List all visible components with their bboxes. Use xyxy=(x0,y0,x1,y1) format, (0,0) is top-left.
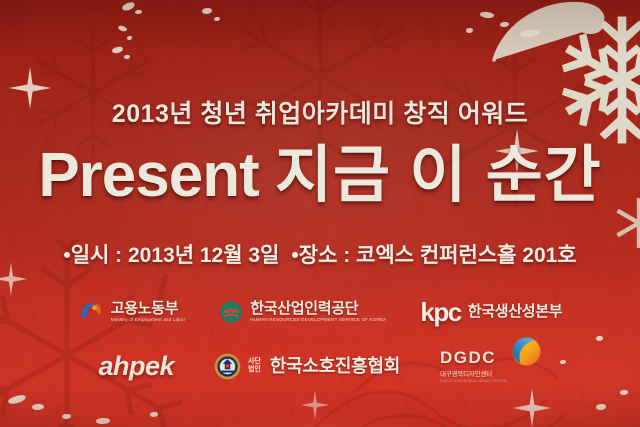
event-venue: •장소 : 코엑스 컨퍼런스홀 201호 xyxy=(291,244,576,267)
ahpek-wordmark-icon: ahpek xyxy=(98,353,174,380)
kpc-wordmark-icon: kpc xyxy=(420,299,460,325)
moel-text: 고용노동부 Ministry of Employment and Labor xyxy=(111,301,186,324)
dgdc-text: DGDC 대구경북디자인센터 DAEGU GYEONGBUK DESIGN CE… xyxy=(440,349,507,383)
sponsor-logo-moel: 고용노동부 Ministry of Employment and Labor xyxy=(78,299,186,325)
soho-prefix-line2: 법인 xyxy=(248,366,261,373)
soho-prefix-line1: 사단 xyxy=(248,358,261,365)
kpc-name-ko: 한국생산성본부 xyxy=(468,304,563,320)
banner-title-english: Present xyxy=(38,141,258,210)
sponsor-row-primary: 고용노동부 Ministry of Employment and Labor 한… xyxy=(0,291,640,333)
event-date: •일시 : 2013년 12월 3일 xyxy=(63,244,279,267)
hrdkorea-text: 한국산업인력공단 HUMAN RESOURCES DEVELOPMENT SER… xyxy=(250,301,386,324)
moel-name-ko: 고용노동부 xyxy=(111,301,186,317)
sponsor-row-secondary: ahpek 사단 법인 한국소호진흥협회 xyxy=(0,342,640,390)
hrdkorea-circle-icon xyxy=(219,300,243,324)
hrdkorea-name-en: HUMAN RESOURCES DEVELOPMENT SERVICE OF K… xyxy=(250,317,386,323)
sponsor-logo-soho: 사단 법인 한국소호진흥협회 xyxy=(214,353,400,380)
dgdc-name-ko: 대구경북디자인센터 xyxy=(440,368,492,378)
dgdc-name-en: DAEGU GYEONGBUK DESIGN CENTER xyxy=(440,379,507,383)
event-banner: 2013년 청년 취업아카데미 창직 어워드 Present 지금 이 순간 •… xyxy=(0,0,640,427)
sponsor-logo-kpc: kpc 한국생산성본부 xyxy=(420,299,562,325)
sponsor-logo-hrdkorea: 한국산업인력공단 HUMAN RESOURCES DEVELOPMENT SER… xyxy=(219,300,386,324)
soho-emblem-icon xyxy=(214,353,241,380)
ribbon-swoosh-icon xyxy=(486,0,606,68)
moel-swoosh-icon xyxy=(78,299,104,325)
soho-text: 한국소호진흥협회 xyxy=(270,357,400,376)
kpc-text: 한국생산성본부 xyxy=(468,304,563,320)
soho-name-ko: 한국소호진흥협회 xyxy=(270,357,400,376)
hrdkorea-name-ko: 한국산업인력공단 xyxy=(250,301,386,317)
moel-name-en: Ministry of Employment and Labor xyxy=(111,317,186,323)
banner-headline: 2013년 청년 취업아카데미 창직 어워드 xyxy=(0,94,640,130)
dgdc-wordmark-icon: DGDC xyxy=(440,349,496,366)
dgdc-circle-icon xyxy=(511,336,542,367)
sponsor-logo-dgdc: DGDC 대구경북디자인센터 DAEGU GYEONGBUK DESIGN CE… xyxy=(440,349,542,383)
banner-title-korean: 지금 이 순간 xyxy=(275,141,602,210)
banner-title: Present 지금 이 순간 xyxy=(0,143,640,208)
soho-prefix: 사단 법인 xyxy=(248,358,261,374)
sponsor-logo-ahpek: ahpek xyxy=(98,353,174,380)
banner-details: •일시 : 2013년 12월 3일•장소 : 코엑스 컨퍼런스홀 201호 xyxy=(0,239,640,269)
